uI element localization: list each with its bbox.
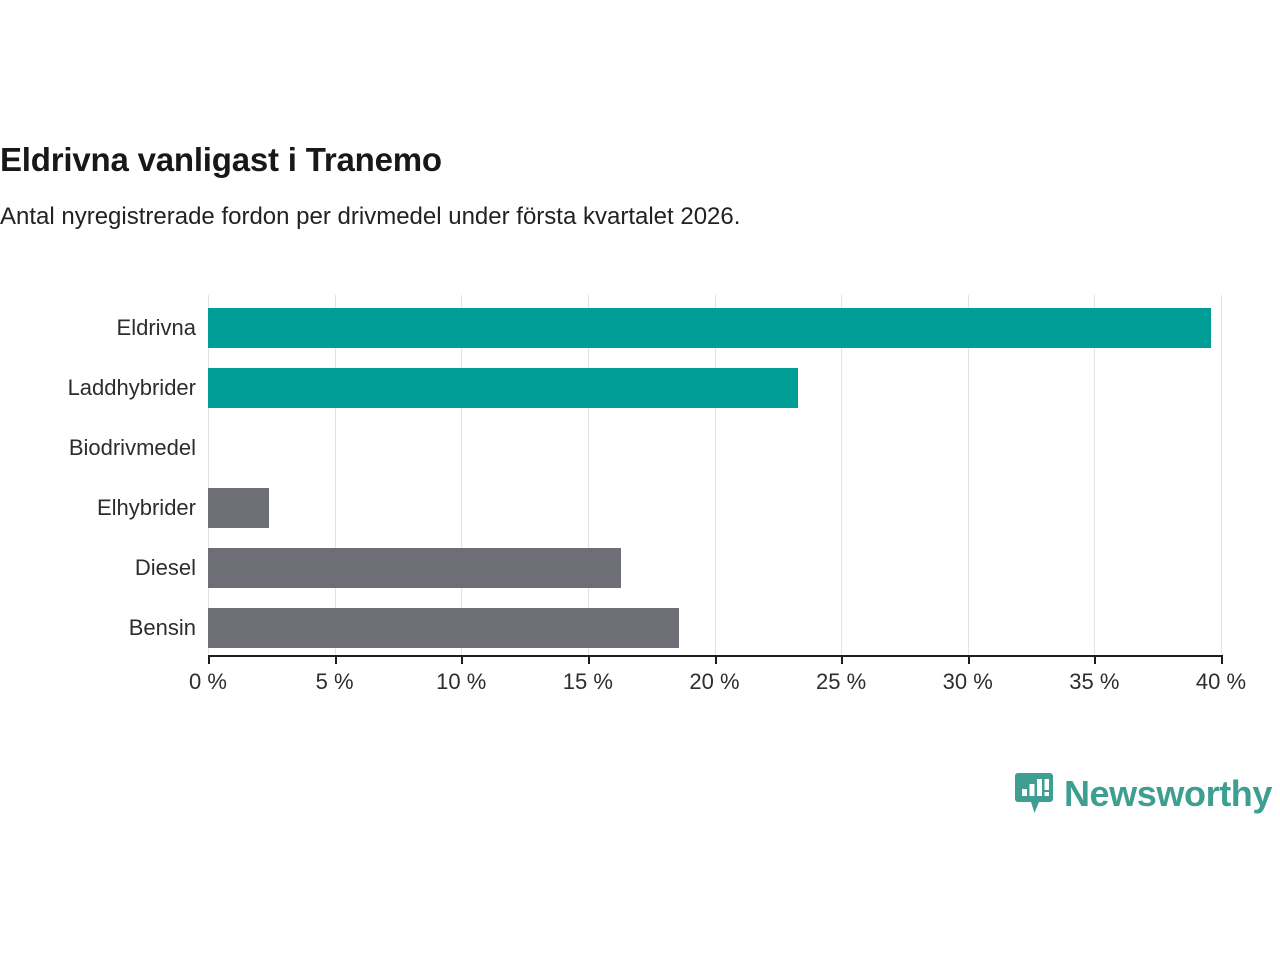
- y-axis-tick-label: Diesel: [0, 555, 196, 581]
- bar[interactable]: [208, 488, 269, 528]
- bar-row: [208, 368, 1221, 408]
- y-axis-tick-label: Biodrivmedel: [0, 435, 196, 461]
- x-axis-tick-mark: [715, 655, 717, 664]
- gridline: [1094, 295, 1095, 655]
- plot-area: [208, 295, 1221, 655]
- gridline: [335, 295, 336, 655]
- x-axis-tick-mark: [1094, 655, 1096, 664]
- gridline: [715, 295, 716, 655]
- y-axis-tick-label: Eldrivna: [0, 315, 196, 341]
- x-axis-tick-label: 0 %: [138, 668, 278, 696]
- bar-chart-bubble-icon: [1014, 772, 1054, 816]
- bar[interactable]: [208, 548, 621, 588]
- bar[interactable]: [208, 368, 798, 408]
- y-axis-tick-label: Bensin: [0, 615, 196, 641]
- newsworthy-logo: Newsworthy: [1014, 766, 1272, 822]
- bar-row: [208, 488, 1221, 528]
- bar[interactable]: [208, 608, 679, 648]
- x-axis-tick-label: 30 %: [898, 668, 1038, 696]
- bar-row: [208, 428, 1221, 468]
- y-axis: EldrivnaLaddhybriderBiodrivmedelElhybrid…: [0, 295, 196, 655]
- x-axis-tick-mark: [335, 655, 337, 664]
- chart-header: Eldrivna vanligast i Tranemo Antal nyreg…: [0, 140, 1280, 233]
- bar[interactable]: [208, 308, 1211, 348]
- x-axis-tick-mark: [588, 655, 590, 664]
- x-axis-tick-mark: [208, 655, 210, 664]
- x-axis-tick-label: 40 %: [1151, 668, 1280, 696]
- x-axis-tick-mark: [461, 655, 463, 664]
- bar-chart: EldrivnaLaddhybriderBiodrivmedelElhybrid…: [0, 295, 1280, 655]
- bar-row: [208, 308, 1221, 348]
- x-axis-tick-label: 15 %: [518, 668, 658, 696]
- x-axis-tick-label: 25 %: [771, 668, 911, 696]
- x-axis-tick-label: 20 %: [645, 668, 785, 696]
- x-axis-tick-mark: [1221, 655, 1223, 664]
- gridline: [841, 295, 842, 655]
- y-axis-tick-label: Laddhybrider: [0, 375, 196, 401]
- x-axis-tick-mark: [841, 655, 843, 664]
- gridline: [208, 295, 209, 655]
- brand-name: Newsworthy: [1064, 774, 1272, 814]
- bar-row: [208, 548, 1221, 588]
- x-axis-tick-label: 35 %: [1024, 668, 1164, 696]
- bar-row: [208, 608, 1221, 648]
- x-axis-tick-mark: [968, 655, 970, 664]
- x-axis-tick-label: 5 %: [265, 668, 405, 696]
- chart-subtitle: Antal nyregistrerade fordon per drivmede…: [0, 180, 1280, 233]
- gridline: [588, 295, 589, 655]
- gridline: [968, 295, 969, 655]
- x-axis-tick-label: 10 %: [391, 668, 531, 696]
- y-axis-tick-label: Elhybrider: [0, 495, 196, 521]
- page-title: Eldrivna vanligast i Tranemo: [0, 140, 1280, 180]
- gridline: [1221, 295, 1222, 655]
- gridline: [461, 295, 462, 655]
